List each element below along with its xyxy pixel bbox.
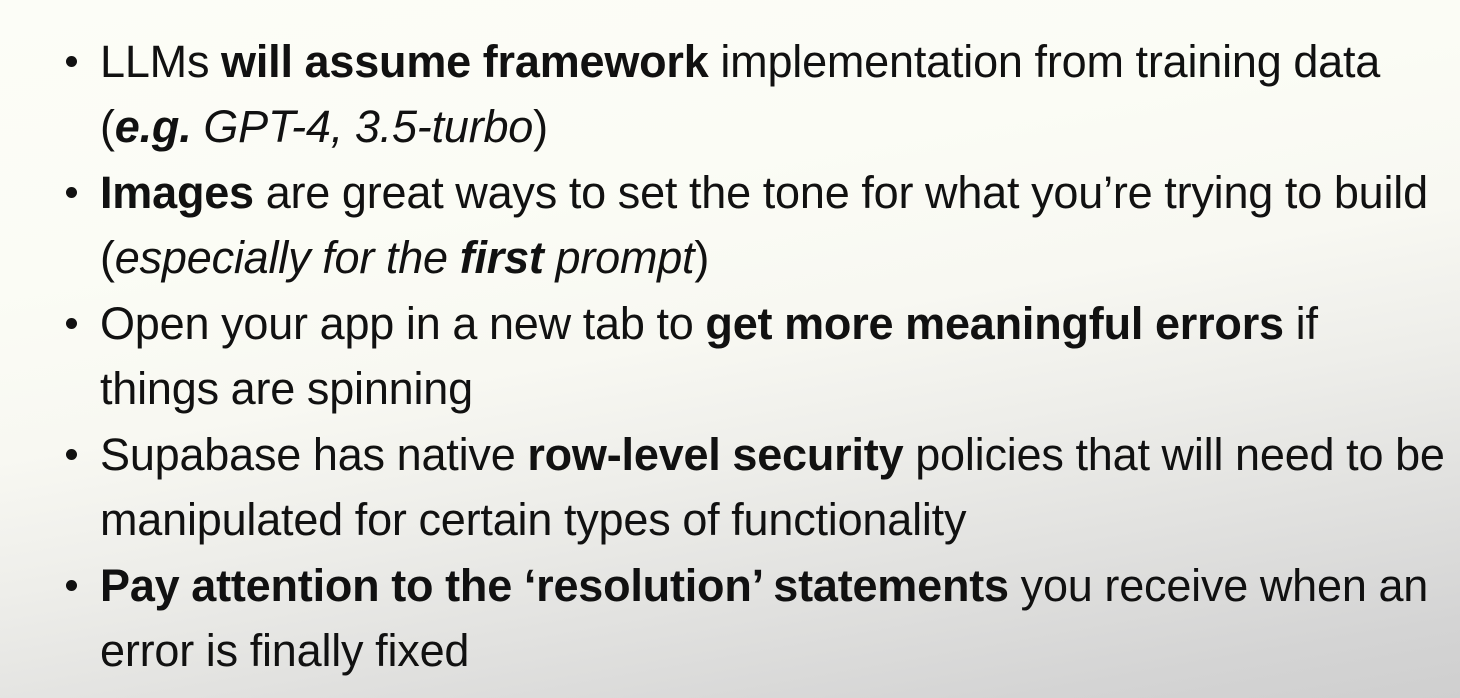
bullet-item: Pay attention to the ‘resolution’ statem… xyxy=(0,554,1460,683)
bullet-text-segment: LLMs xyxy=(100,36,221,87)
bullet-text-segment: Images xyxy=(100,167,254,218)
slide-canvas: LLMs will assume framework implementatio… xyxy=(0,0,1460,698)
bullet-text: Pay attention to the ‘resolution’ statem… xyxy=(100,554,1446,683)
bullet-text-segment: Pay attention to the ‘resolution’ statem… xyxy=(100,560,1009,611)
bullet-dot-icon xyxy=(66,56,77,67)
bullet-text-segment: prompt xyxy=(544,232,695,283)
bullet-text: Open your app in a new tab to get more m… xyxy=(100,292,1446,421)
bullet-dot-icon xyxy=(66,580,77,591)
bullet-text-segment: first xyxy=(460,232,544,283)
bullet-text-segment: e.g. xyxy=(115,101,192,152)
bullet-dot-icon xyxy=(66,449,77,460)
bullet-text-segment: especially for the xyxy=(115,232,460,283)
bullet-text-segment: Supabase has native xyxy=(100,429,527,480)
bullet-text-segment: ) xyxy=(533,101,548,152)
bullet-dot-icon xyxy=(66,187,77,198)
bullet-text-segment: Open your app in a new tab to xyxy=(100,298,705,349)
bullet-text-segment: get more meaningful errors xyxy=(705,298,1283,349)
bullet-text-segment: GPT-4, 3.5-turbo xyxy=(192,101,534,152)
bullet-item: Supabase has native row-level security p… xyxy=(0,423,1460,552)
bullet-list: LLMs will assume framework implementatio… xyxy=(0,30,1460,685)
bullet-item: LLMs will assume framework implementatio… xyxy=(0,30,1460,159)
bullet-text-segment: row-level security xyxy=(527,429,903,480)
bullet-text-segment: will assume framework xyxy=(221,36,709,87)
bullet-dot-icon xyxy=(66,318,77,329)
bullet-text-segment: ) xyxy=(694,232,709,283)
bullet-item: Images are great ways to set the tone fo… xyxy=(0,161,1460,290)
bullet-item: Open your app in a new tab to get more m… xyxy=(0,292,1460,421)
bullet-text: Images are great ways to set the tone fo… xyxy=(100,161,1446,290)
bullet-text: Supabase has native row-level security p… xyxy=(100,423,1446,552)
bullet-text: LLMs will assume framework implementatio… xyxy=(100,30,1446,159)
